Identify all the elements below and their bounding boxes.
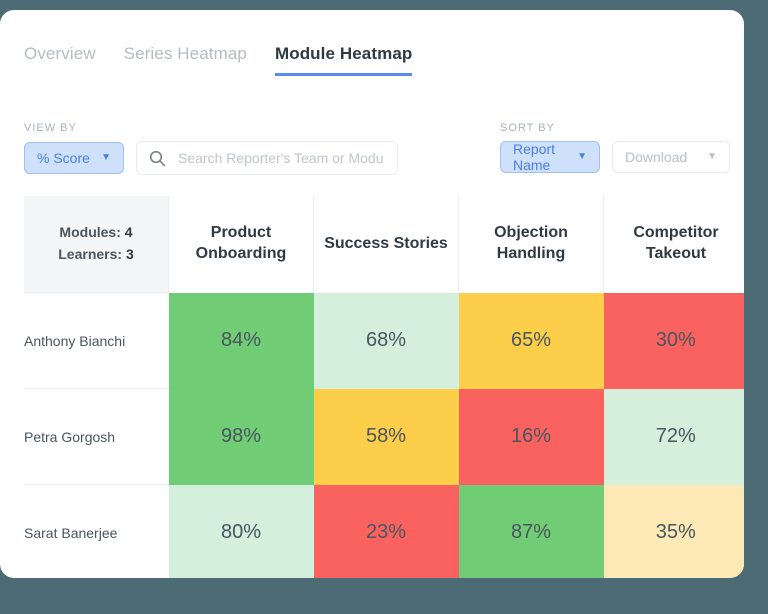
- column-header[interactable]: Competitor Takeout: [604, 196, 745, 293]
- modules-value: 4: [125, 224, 133, 240]
- heatmap-cell[interactable]: 16%: [459, 389, 604, 485]
- chevron-down-icon: ▼: [577, 152, 587, 162]
- learners-value: 3: [126, 246, 134, 262]
- heatmap-cell[interactable]: 84%: [169, 293, 314, 389]
- row-header[interactable]: Petra Gorgosh: [24, 389, 169, 485]
- row-header[interactable]: Anthony Bianchi: [24, 293, 169, 389]
- heatmap-cell[interactable]: 80%: [169, 485, 314, 579]
- chevron-down-icon: ▼: [101, 153, 111, 163]
- report-card: Overview Series Heatmap Module Heatmap V…: [0, 10, 744, 578]
- heatmap-cell[interactable]: 72%: [604, 389, 745, 485]
- search-box[interactable]: [136, 141, 398, 175]
- search-input[interactable]: [176, 149, 385, 167]
- download-dropdown[interactable]: Download ▼: [612, 141, 730, 173]
- column-header[interactable]: Objection Handling: [459, 196, 604, 293]
- heatmap-cell[interactable]: 58%: [314, 389, 459, 485]
- tab-series-heatmap[interactable]: Series Heatmap: [124, 44, 247, 76]
- heatmap-cell[interactable]: 65%: [459, 293, 604, 389]
- view-by-label: VIEW BY: [24, 122, 398, 134]
- sort-by-dropdown[interactable]: Report Name ▼: [500, 141, 600, 173]
- modules-label: Modules:: [59, 224, 120, 240]
- heatmap-cell[interactable]: 68%: [314, 293, 459, 389]
- download-label: Download: [625, 149, 687, 165]
- table-header-row: Modules: 4 Learners: 3 Product Onboardin…: [24, 196, 744, 293]
- heatmap-cell[interactable]: 23%: [314, 485, 459, 579]
- table-row: Anthony Bianchi 84% 68% 65% 30%: [24, 293, 744, 389]
- tab-bar: Overview Series Heatmap Module Heatmap: [24, 44, 412, 76]
- row-header[interactable]: Sarat Banerjee: [24, 485, 169, 579]
- controls-bar: VIEW BY % Score ▼ SORT B: [24, 122, 720, 174]
- column-header[interactable]: Success Stories: [314, 196, 459, 293]
- table-row: Petra Gorgosh 98% 58% 16% 72%: [24, 389, 744, 485]
- summary-cell: Modules: 4 Learners: 3: [24, 196, 169, 293]
- heatmap-cell[interactable]: 87%: [459, 485, 604, 579]
- column-header[interactable]: Product Onboarding: [169, 196, 314, 293]
- view-by-value: % Score: [37, 150, 90, 166]
- heatmap-cell[interactable]: 35%: [604, 485, 745, 579]
- tab-module-heatmap[interactable]: Module Heatmap: [275, 44, 412, 76]
- heatmap-cell[interactable]: 30%: [604, 293, 745, 389]
- table-body: Anthony Bianchi 84% 68% 65% 30% Petra Go…: [24, 293, 744, 579]
- view-by-group: VIEW BY % Score ▼: [24, 122, 398, 175]
- view-by-dropdown[interactable]: % Score ▼: [24, 142, 124, 174]
- sort-by-label: SORT BY: [500, 122, 730, 134]
- learners-count: Learners: 3: [24, 244, 168, 266]
- module-heatmap-table: Modules: 4 Learners: 3 Product Onboardin…: [24, 196, 744, 578]
- modules-count: Modules: 4: [24, 222, 168, 244]
- heatmap-cell[interactable]: 98%: [169, 389, 314, 485]
- table-row: Sarat Banerjee 80% 23% 87% 35%: [24, 485, 744, 579]
- tab-overview[interactable]: Overview: [24, 44, 96, 76]
- chevron-down-icon: ▼: [707, 152, 717, 162]
- search-icon: [149, 150, 166, 167]
- sort-by-group: SORT BY Report Name ▼ Download ▼: [500, 122, 730, 173]
- learners-label: Learners:: [58, 246, 122, 262]
- sort-by-value: Report Name: [513, 141, 567, 173]
